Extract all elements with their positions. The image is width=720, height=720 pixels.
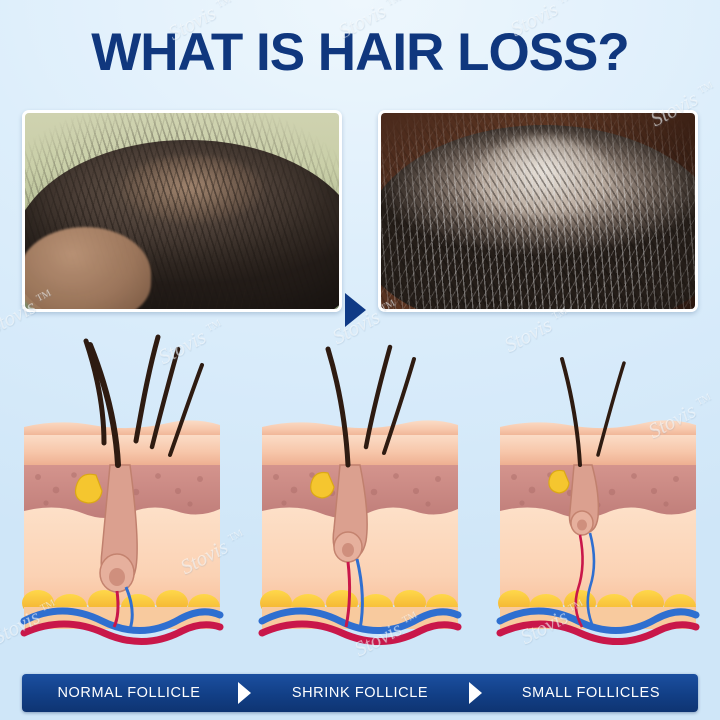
normal-follicle-illustration <box>18 315 226 665</box>
follicle-label-bar: NORMAL FOLLICLE SHRINK FOLLICLE SMALL FO… <box>22 674 698 712</box>
follicle-diagrams <box>0 315 720 665</box>
after-photo <box>378 110 698 312</box>
shrink-follicle-illustration <box>256 315 464 665</box>
after-hair-strands <box>381 113 695 309</box>
panel-shrink-follicle <box>256 315 464 665</box>
page-title: WHAT IS HAIR LOSS? <box>0 22 720 83</box>
panel-normal-follicle <box>18 315 226 665</box>
poster-root: WHAT IS HAIR LOSS? <box>0 0 720 720</box>
chevron-right-icon-2 <box>469 682 482 704</box>
label-shrink-follicle: SHRINK FOLLICLE <box>253 685 467 701</box>
panel-small-follicles <box>494 315 702 665</box>
after-photo-image <box>381 113 695 309</box>
before-photo <box>22 110 342 312</box>
small-follicle-illustration <box>494 315 702 665</box>
photo-comparison <box>0 110 720 306</box>
label-normal-follicle: NORMAL FOLLICLE <box>22 685 236 701</box>
label-small-follicles: SMALL FOLLICLES <box>484 685 698 701</box>
before-photo-image <box>25 113 339 309</box>
chevron-right-icon-1 <box>238 682 251 704</box>
